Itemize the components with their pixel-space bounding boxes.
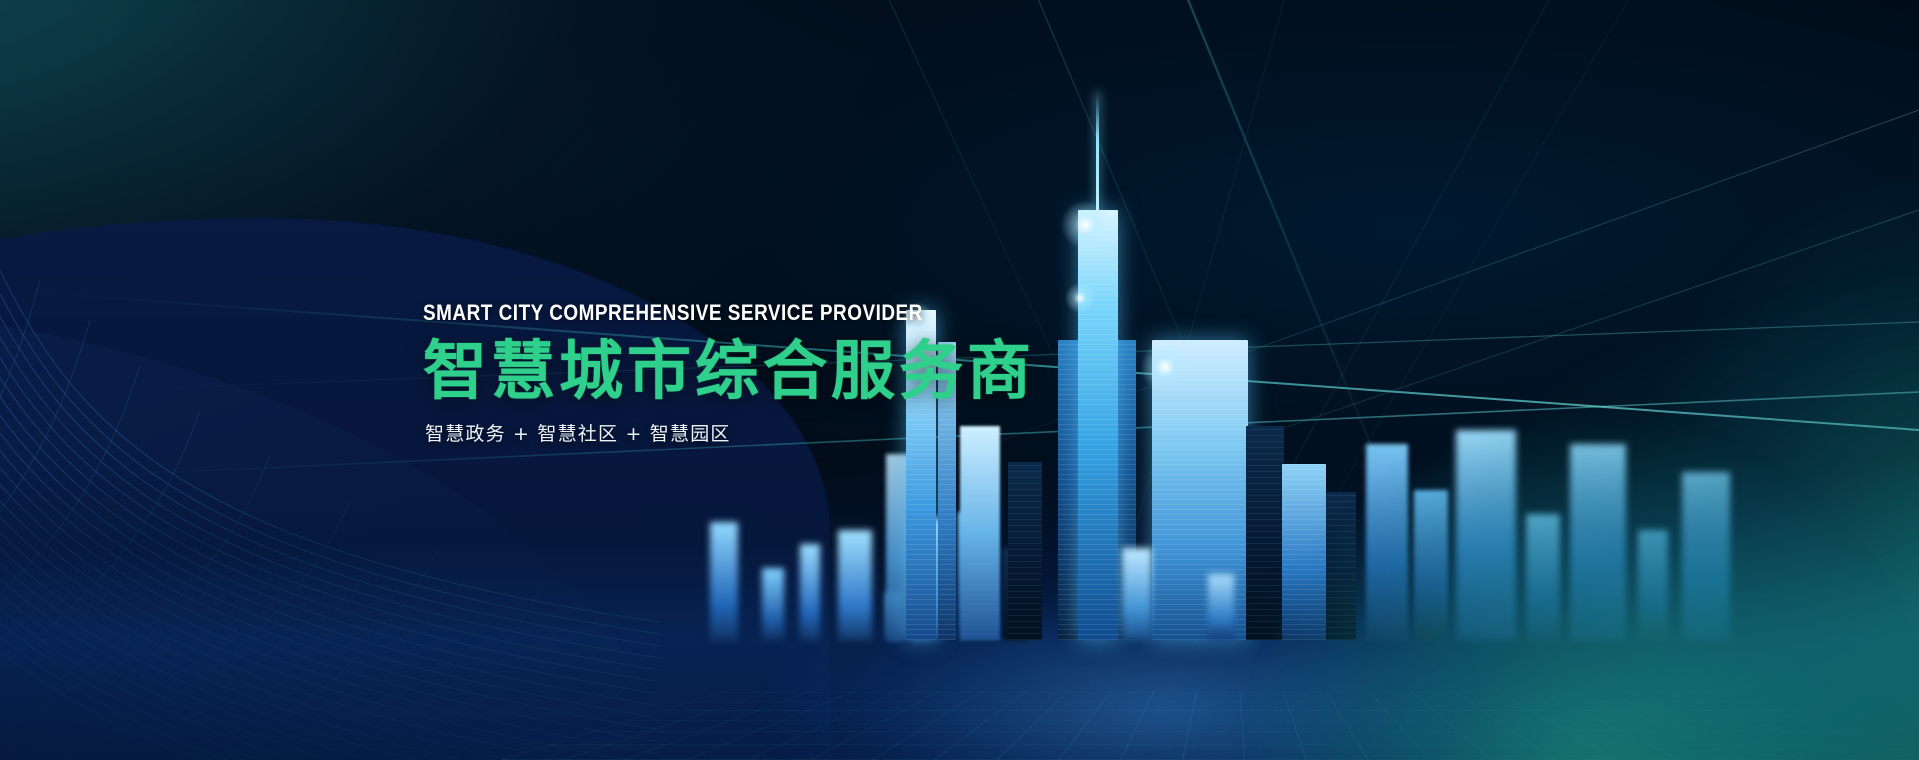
subtitle-services: 智慧政务 + 智慧社区 + 智慧园区	[425, 419, 1035, 446]
smart-city-hero-banner: SMART CITY COMPREHENSIVE SERVICE PROVIDE…	[0, 0, 1919, 760]
building-tower	[960, 426, 1000, 640]
building-slab	[800, 544, 820, 640]
hero-text-block: SMART CITY COMPREHENSIVE SERVICE PROVIDE…	[423, 300, 1035, 446]
page-title: 智慧城市综合服务商	[423, 340, 1035, 405]
eyebrow-tagline: SMART CITY COMPREHENSIVE SERVICE PROVIDE…	[423, 300, 949, 326]
building-slab	[710, 522, 738, 640]
building-tower	[1008, 462, 1042, 640]
building-slab	[762, 568, 784, 640]
building-spire	[1096, 92, 1099, 210]
building-slab	[838, 530, 872, 640]
